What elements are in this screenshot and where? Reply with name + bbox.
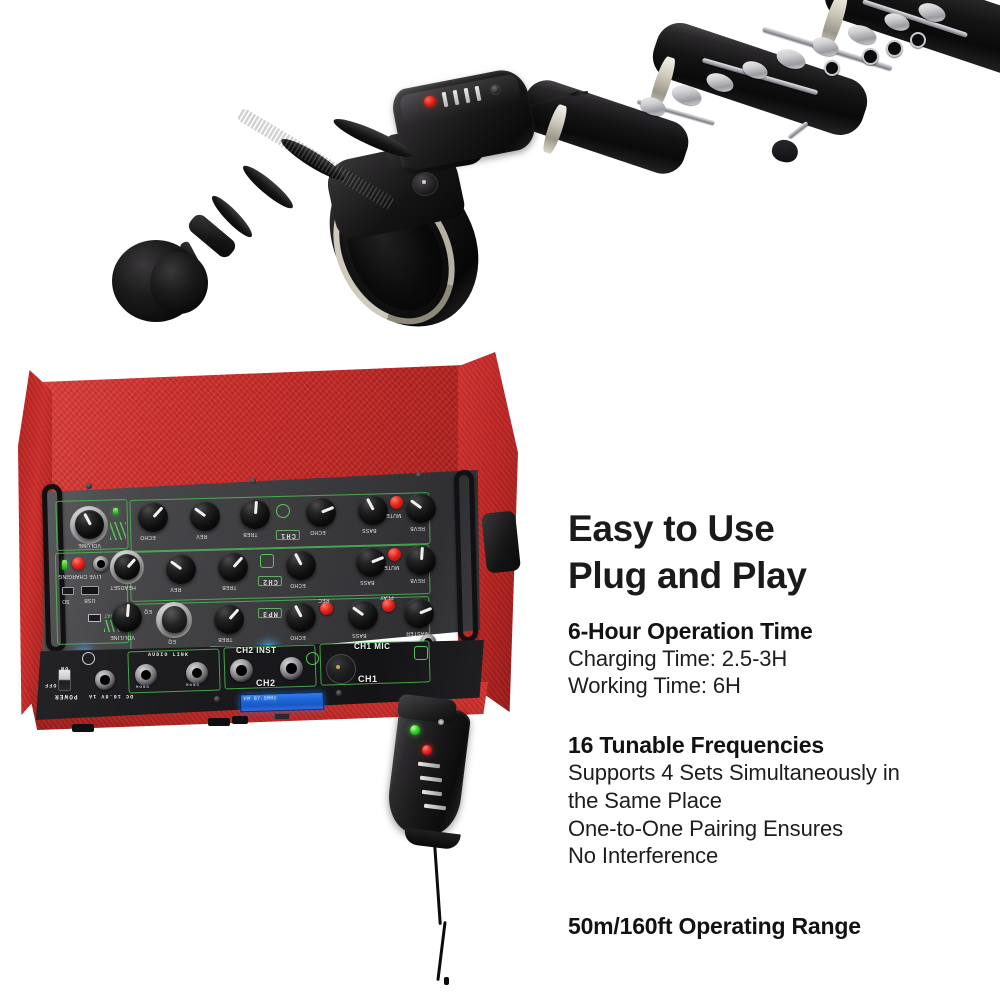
panel-screw-3 <box>416 472 422 478</box>
play-button[interactable] <box>382 599 395 612</box>
receiver-bottom-cap <box>403 828 461 851</box>
master-knob[interactable] <box>404 598 434 628</box>
label-ch2-revb: REVB <box>410 577 425 583</box>
ch2-inst-jack-2[interactable] <box>280 657 303 680</box>
master-echo-knob[interactable] <box>286 602 316 632</box>
clarinet-thumb-rest <box>770 137 801 165</box>
headline: Easy to Use Plug and Play <box>568 505 988 600</box>
master-volume-knob[interactable] <box>75 510 104 539</box>
transmitter-power-led-icon <box>424 96 436 107</box>
label-eq: EQ <box>168 638 176 644</box>
clarinet-upper-joint <box>818 0 1000 85</box>
wireless-receiver-assembly <box>380 695 530 985</box>
usb-port[interactable] <box>81 586 99 595</box>
feature-title-range: 50m/160ft Operating Range <box>568 912 988 940</box>
amp-side-port[interactable] <box>481 510 521 573</box>
label-ch2-treb: TREB <box>222 584 237 590</box>
marketing-copy: Easy to Use Plug and Play 6-Hour Operati… <box>568 505 988 940</box>
transmitter-select-button[interactable] <box>490 84 501 95</box>
ch1-xlr-jack[interactable] <box>326 654 356 684</box>
feature-line-pairing-2: No Interference <box>568 842 988 870</box>
label-ch1-echo: ECHO <box>140 534 156 540</box>
receiver-antenna-cable-2 <box>436 921 446 981</box>
feature-line-charging-time: Charging Time: 2.5-3H <box>568 645 988 673</box>
clarinet-tonehole-ring-3 <box>910 32 926 48</box>
headline-line-2: Plug and Play <box>568 552 988 599</box>
ch1-xlr-pin-1 <box>336 665 340 669</box>
amp-foot-right <box>232 716 248 724</box>
product-feature-image: VOLUME ECHO REV TREB CH1 ECHO BASS MUTE … <box>0 0 1000 1000</box>
lcd-text: FM 87.5MHz <box>244 695 277 702</box>
label-link-mono-2: MONO <box>186 684 200 688</box>
aux-mini-jack[interactable] <box>93 556 109 572</box>
wireless-receiver[interactable] <box>384 703 471 839</box>
feature-block-frequencies: 16 Tunable Frequencies Supports 4 Sets S… <box>568 731 988 870</box>
master-treb-knob[interactable] <box>214 604 244 634</box>
panel-screw-1 <box>86 483 92 489</box>
feature-title-battery: 6-Hour Operation Time <box>568 617 988 645</box>
dc-input-jack[interactable] <box>95 670 115 690</box>
gooseneck-segment-3 <box>239 161 297 213</box>
ch1-badge: CH1 <box>358 674 378 684</box>
feature-line-pairing-1: One-to-One Pairing Ensures <box>568 815 988 843</box>
label-ch1-mic: CH1 MIC <box>354 642 390 651</box>
mic-glyph-icon <box>276 504 290 518</box>
mic-jack-glyph-icon <box>414 646 428 660</box>
receiver-marker-dot <box>438 719 444 725</box>
clarinet-tonehole-ring-2 <box>886 40 903 57</box>
label-ch1-mute: MUTE <box>386 512 401 518</box>
ch1-bass-knob[interactable] <box>358 495 388 525</box>
sd-card-slot[interactable] <box>62 587 74 595</box>
power-switch[interactable] <box>58 669 71 691</box>
ch2-group-badge: CH2 <box>258 576 282 586</box>
clarinet-assembly <box>0 0 1000 360</box>
eq-joystick[interactable] <box>162 606 187 633</box>
label-headset: HEADSET <box>110 584 136 590</box>
label-ch1-echo2: ECHO <box>310 529 326 535</box>
radio-lcd-display: FM 87.5MHz <box>240 692 325 713</box>
live-charging-button[interactable] <box>72 557 85 570</box>
audio-link-in-jack[interactable] <box>186 662 208 684</box>
label-ch2-inst: CH2 INST <box>236 646 276 655</box>
label-master-bass: BASS <box>352 632 367 638</box>
ch1-rev-knob[interactable] <box>190 501 220 531</box>
label-audio-link: AUDIO LINK <box>148 652 189 658</box>
label-master-volume: VOLUME <box>78 542 101 548</box>
label-live-charging: LIVE CHARGING <box>58 573 101 579</box>
label-ch1-treb: TREB <box>243 531 258 537</box>
receiver-antenna-cable <box>433 845 441 925</box>
mp3-group-badge: MP3 <box>258 608 282 618</box>
clarinet-tonehole-ring-1 <box>862 48 879 65</box>
amp-foot-mid <box>208 718 230 726</box>
clarinet-key-6 <box>810 34 841 59</box>
front-panel-screw-1 <box>214 696 220 702</box>
amp-foot-left <box>72 724 94 732</box>
feature-line-sets-2: the Same Place <box>568 787 988 815</box>
feature-line-working-time: Working Time: 6H <box>568 672 988 700</box>
label-vol-line: VOL/LINE <box>110 634 135 640</box>
ch2-inst-jack-1[interactable] <box>230 659 253 682</box>
feature-title-frequencies: 16 Tunable Frequencies <box>568 731 988 759</box>
safety-mark-icon <box>82 652 95 665</box>
ch2-mute-button[interactable] <box>388 548 401 561</box>
label-ch1-rev: REV <box>196 533 207 539</box>
ch1-echo-knob[interactable] <box>138 502 168 532</box>
label-power-on: ON <box>60 665 68 671</box>
label-dc-input: DC 16.8V 1A <box>88 693 133 699</box>
mic-clamp-thumbscrew-dot <box>422 180 426 184</box>
feature-block-battery: 6-Hour Operation Time Charging Time: 2.5… <box>568 617 988 700</box>
label-ch2-bass: BASS <box>360 579 375 585</box>
feature-block-range: 50m/160ft Operating Range <box>568 912 988 940</box>
label-play: PLAY <box>380 594 394 600</box>
headset-knob[interactable] <box>114 554 140 580</box>
label-ch2-rev: REV <box>170 586 181 592</box>
label-ch2-echo: ECHO <box>290 582 306 588</box>
rec-button[interactable] <box>320 602 333 615</box>
battery-icon <box>88 614 101 622</box>
label-master-echo: ECHO <box>290 634 306 640</box>
ch2-rev-knob[interactable] <box>166 554 196 584</box>
label-ch1-bass: BASS <box>362 527 377 533</box>
label-power-off: OFF <box>44 682 56 688</box>
power-indicator-led-icon <box>113 508 118 515</box>
label-master-treb: TREB <box>218 636 233 642</box>
receiver-antenna-tip <box>444 977 449 985</box>
ch1-echo2-knob[interactable] <box>306 497 336 527</box>
lcd-label-plate <box>274 713 290 720</box>
charging-led-icon <box>62 560 67 570</box>
guitar-jack-glyph-icon <box>306 652 319 665</box>
ch2-echo-knob[interactable] <box>286 550 316 580</box>
ch2-treb-knob[interactable] <box>218 552 248 582</box>
clarinet-tonehole-ring-4 <box>824 60 840 76</box>
label-power: POWER <box>54 693 78 700</box>
silkscreen-stripes-1 <box>110 522 126 540</box>
microphone-windscreen-lobe <box>150 252 208 314</box>
ch2-revb-knob[interactable] <box>406 545 436 575</box>
ch2-bass-knob[interactable] <box>356 547 386 577</box>
ch1-group-badge: CH1 <box>276 530 300 540</box>
receiver-power-led-icon <box>410 725 420 735</box>
ch1-mute-button[interactable] <box>390 496 403 509</box>
label-eq-left: EQ <box>144 608 152 614</box>
ch1-treb-knob[interactable] <box>240 499 270 529</box>
guitar-glyph-icon <box>260 554 274 568</box>
panel-screw-2 <box>250 478 256 484</box>
label-rec: REC <box>318 597 329 603</box>
label-ch2-mute: MUTE <box>384 564 399 570</box>
ch2-badge: CH2 <box>256 678 276 688</box>
feature-line-sets-1: Supports 4 Sets Simultaneously in <box>568 759 988 787</box>
receiver-signal-led-icon <box>422 745 432 755</box>
ch1-revb-knob[interactable] <box>406 493 436 523</box>
front-panel-screw-2 <box>336 690 342 696</box>
label-usb: USB <box>84 597 95 603</box>
audio-link-out-jack[interactable] <box>135 664 157 686</box>
vol-line-knob[interactable] <box>112 602 142 632</box>
label-ch1-revb: REVB <box>410 525 425 531</box>
headline-line-1: Easy to Use <box>568 505 988 552</box>
label-sd: SD <box>62 598 70 604</box>
clarinet-thumb-rest-arm <box>787 121 808 139</box>
master-bass-knob[interactable] <box>348 600 378 630</box>
label-link-mono-1: MONO <box>136 686 150 690</box>
mic-clamp-thumbscrew <box>412 172 438 196</box>
